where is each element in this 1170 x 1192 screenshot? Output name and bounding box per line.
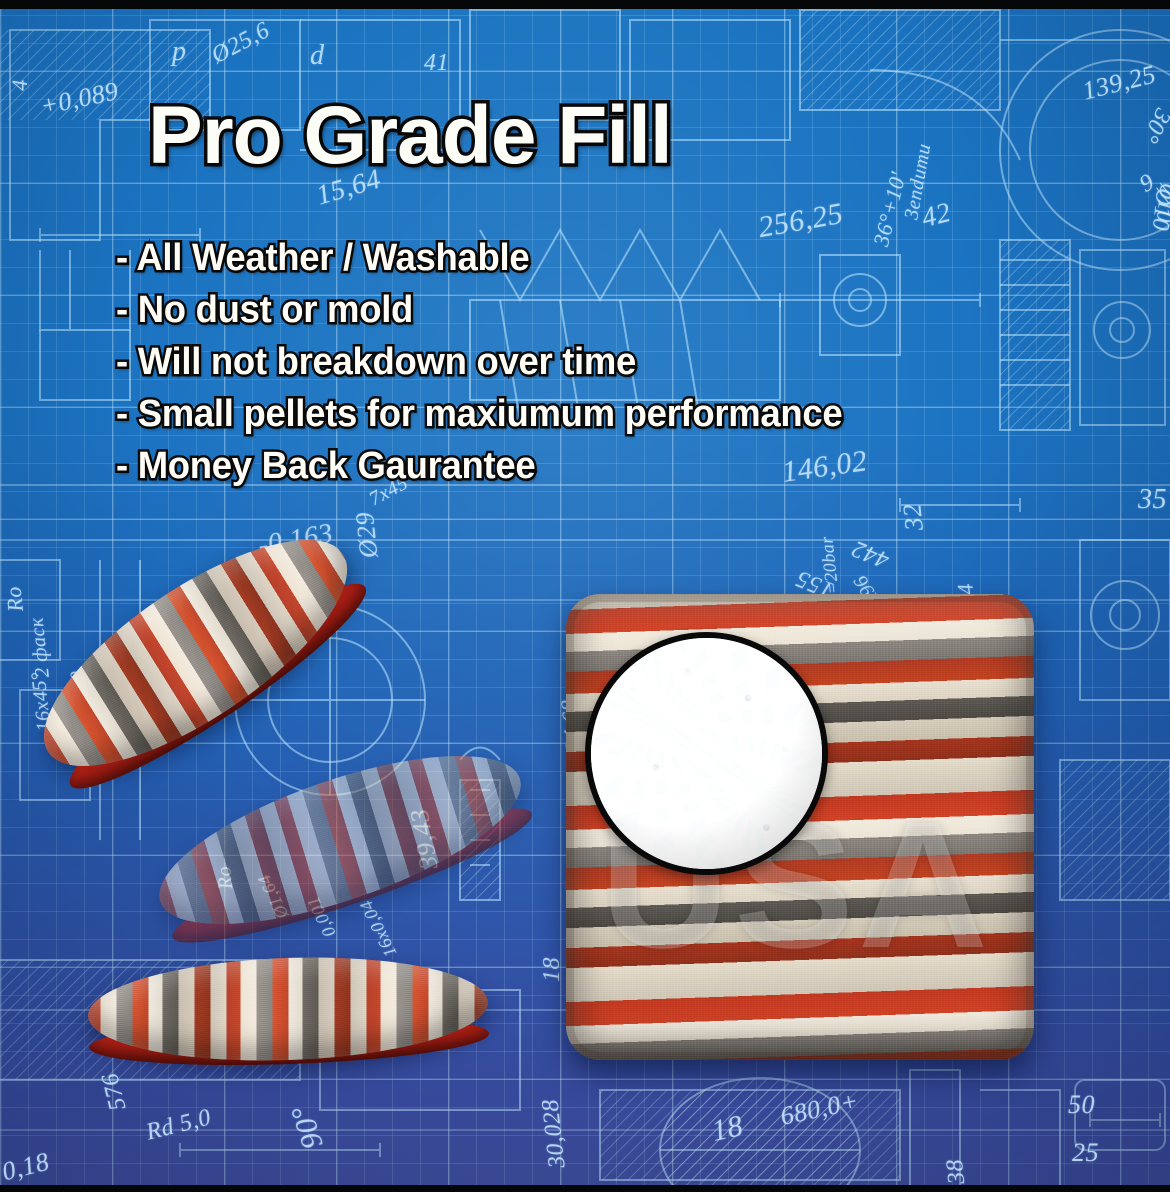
- feature-list-item: - Small pellets for maxiumum performance: [116, 388, 842, 440]
- blueprint-dimension-label: Ø29: [350, 510, 385, 559]
- blueprint-dimension-label: d: [310, 40, 325, 72]
- feature-list-item: - No dust or mold: [116, 284, 842, 336]
- blueprint-dimension-label: 25: [1072, 1138, 1099, 1168]
- feature-list-item: - All Weather / Washable: [116, 232, 842, 284]
- blueprint-dimension-label: 18: [709, 1109, 746, 1149]
- blueprint-dimension-label: p: [172, 36, 187, 68]
- feature-list: - All Weather / Washable- No dust or mol…: [116, 232, 873, 492]
- letterbox-bar-top: [0, 0, 1170, 9]
- pellet-closeup-circle: [585, 632, 828, 875]
- page-title: Pro Grade Fill: [148, 92, 672, 180]
- feature-list-item: - Will not breakdown over time: [116, 336, 842, 388]
- blueprint-dimension-label: 50: [1068, 1090, 1095, 1120]
- blueprint-dimension-label: 18: [539, 957, 566, 982]
- blueprint-dimension-label: 38: [942, 1158, 971, 1186]
- blueprint-dimension-label: 4: [7, 79, 33, 91]
- pellet-circle-shading: [591, 638, 822, 869]
- blueprint-dimension-label: 41: [424, 50, 449, 77]
- blueprint-dimension-label: 35: [1138, 484, 1167, 516]
- blueprint-dimension-label: 32: [897, 502, 930, 532]
- blueprint-dimension-label: Ø10: [1151, 182, 1170, 224]
- blueprint-dimension-label: Ro: [0, 585, 29, 613]
- poster-root: +0,0894pØ25,6d41139,2530°6Ø1015,64256,25…: [0, 0, 1170, 1192]
- feature-list-item: - Money Back Gaurantee: [116, 440, 842, 492]
- letterbox-bar-bottom: [0, 1185, 1170, 1192]
